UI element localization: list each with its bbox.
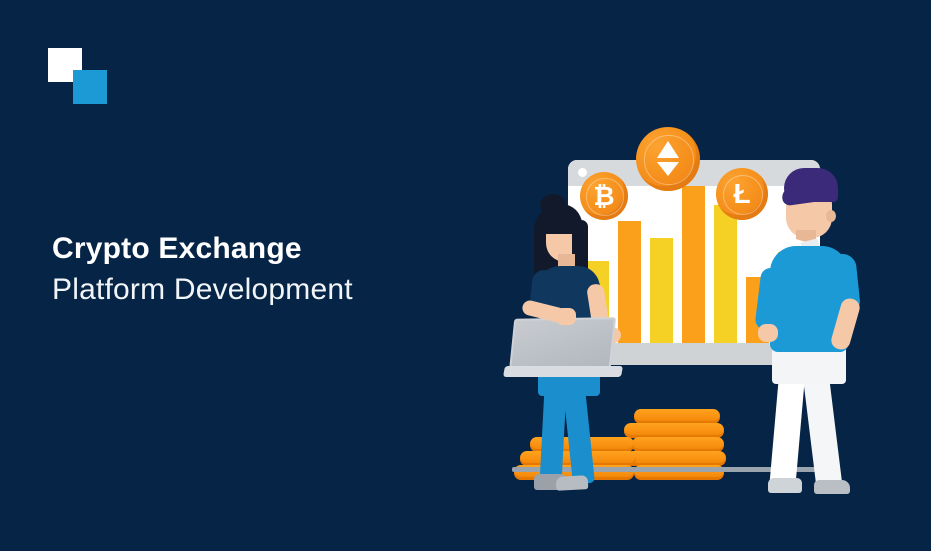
laptop-screen	[509, 317, 616, 371]
litecoin-glyph: Ł	[733, 180, 750, 208]
ethereum-glyph-bottom	[657, 162, 679, 176]
bitcoin-glyph: ₿	[593, 183, 614, 209]
bar-4	[682, 186, 705, 343]
man-shoe-left	[768, 478, 802, 493]
crypto-exchange-illustration: × ₿Ł	[420, 100, 900, 520]
man-leg-right	[803, 375, 843, 493]
browser-dot-icon	[578, 168, 587, 177]
bar-3	[650, 238, 673, 343]
bar-5	[714, 205, 737, 343]
page-title: Crypto Exchange Platform Development	[52, 228, 472, 311]
laptop-base	[503, 366, 623, 377]
woman-leg-left	[540, 387, 567, 484]
ethereum-coin	[636, 127, 700, 191]
woman-leg-right	[563, 387, 595, 485]
woman-with-laptop	[498, 192, 648, 492]
laptop	[504, 318, 622, 380]
brand-logo[interactable]	[48, 48, 108, 96]
man-leg-left	[769, 375, 805, 491]
man-hand-left	[758, 324, 778, 342]
woman-shoe-right	[556, 475, 589, 491]
banner-root: Crypto Exchange Platform Development × ₿…	[0, 0, 931, 551]
ethereum-glyph-top	[657, 141, 679, 158]
headline-line-2: Platform Development	[52, 269, 472, 310]
headline-line-1: Crypto Exchange	[52, 228, 472, 269]
logo-square-blue	[73, 70, 107, 104]
man-standing	[752, 168, 892, 498]
man-shoe-right	[814, 480, 850, 494]
woman-hand-left	[556, 308, 576, 325]
man-ear	[826, 210, 836, 222]
